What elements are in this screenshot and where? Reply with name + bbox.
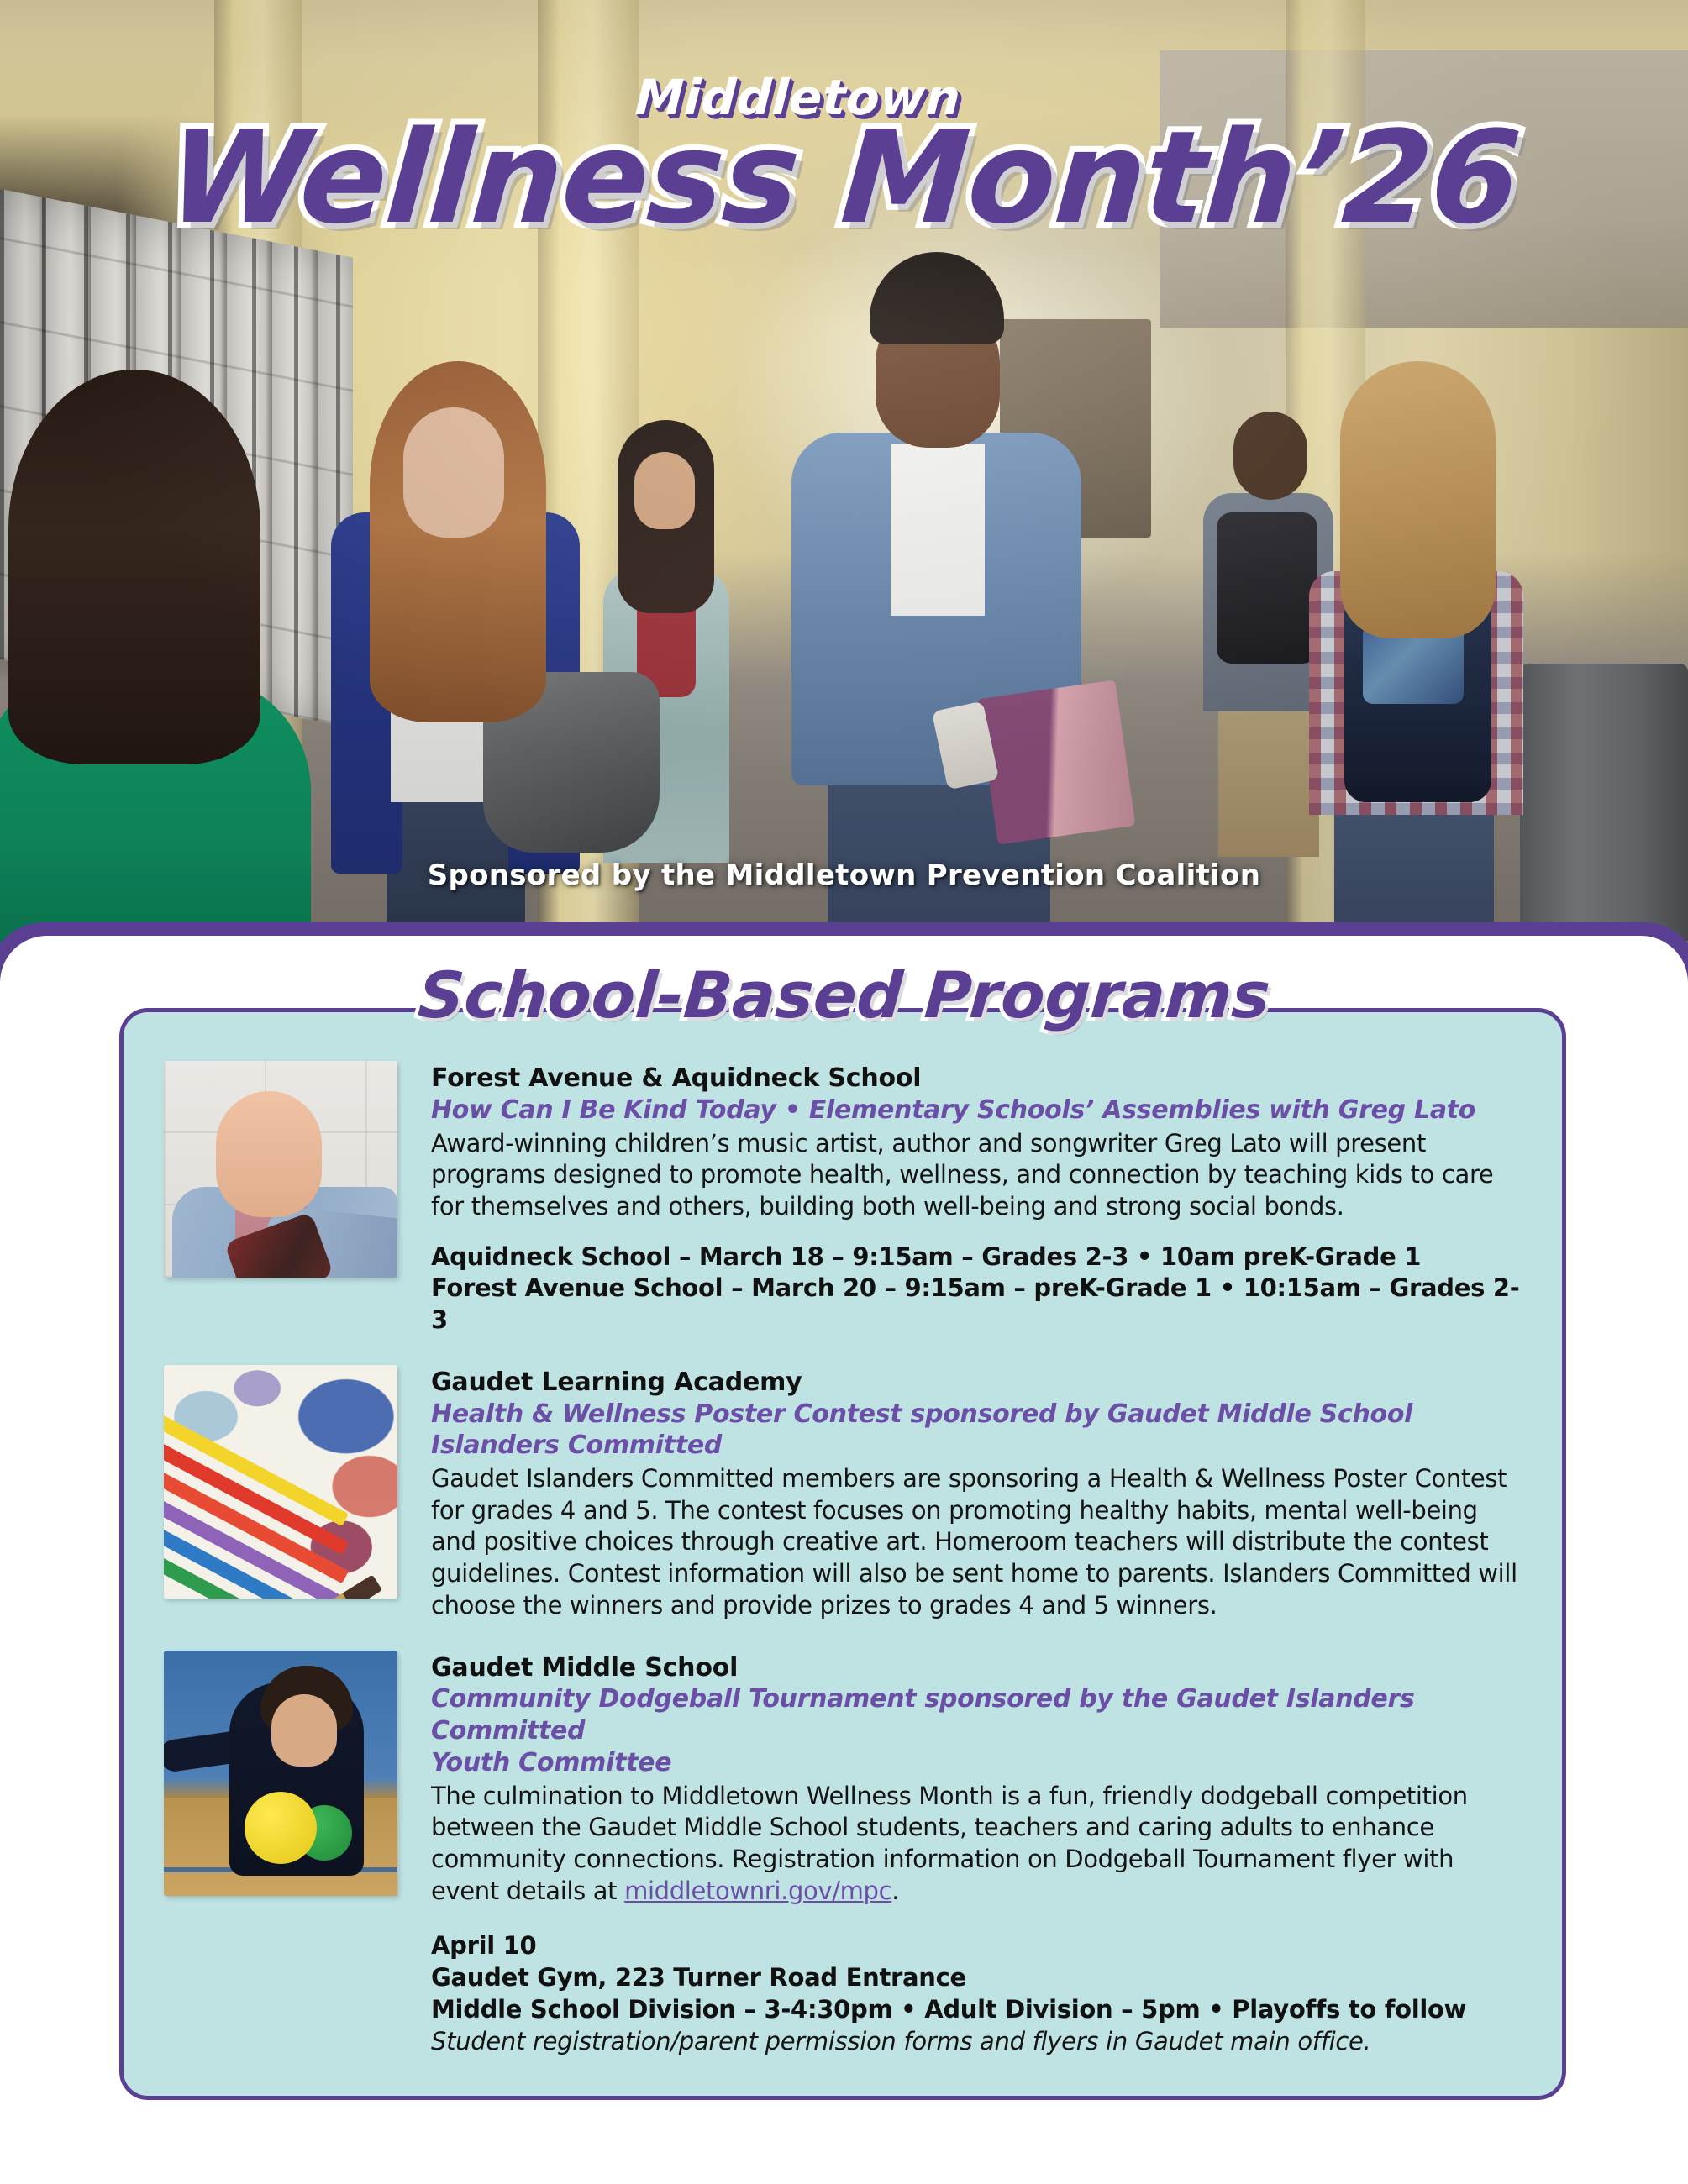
hallway-ceiling-light — [1160, 50, 1688, 328]
program-text: Gaudet Middle School Community Dodgeball… — [431, 1651, 1522, 1908]
event-divisions: Middle School Division – 3-4:30pm • Adul… — [431, 1994, 1522, 2026]
program-body: The culmination to Middletown Wellness M… — [431, 1781, 1522, 1908]
programs-list: Forest Avenue & Aquidneck School How Can… — [124, 1012, 1562, 2091]
section-heading-text: School-Based Programs — [416, 958, 1273, 1032]
wellness-month-flyer: Middletown Wellness Month’26 Sponsored b… — [0, 0, 1688, 2184]
program-text: Gaudet Learning Academy Health & Wellnes… — [431, 1365, 1522, 1622]
program-detail-line: Forest Avenue School – March 20 – 9:15am… — [431, 1273, 1522, 1336]
section-heading: School-Based Programs — [0, 958, 1688, 1032]
event-date: April 10 — [431, 1930, 1522, 1962]
program-details: Aquidneck School – March 18 – 9:15am – G… — [431, 1242, 1522, 1336]
program-text: Forest Avenue & Aquidneck School How Can… — [431, 1061, 1522, 1336]
program-body-post: . — [891, 1877, 899, 1905]
program-subtitle: Community Dodgeball Tournament sponsored… — [431, 1683, 1522, 1747]
program-school: Forest Avenue & Aquidneck School — [431, 1063, 1522, 1095]
colored-pencils-art-photo — [164, 1365, 397, 1599]
program-school: Gaudet Learning Academy — [431, 1367, 1522, 1399]
hero-photo — [0, 0, 1688, 949]
event-venue: Gaudet Gym, 223 Turner Road Entrance — [431, 1962, 1522, 1994]
program-subtitle: How Can I Be Kind Today • Elementary Sch… — [431, 1095, 1522, 1126]
program-body: Award-winning children’s music artist, a… — [431, 1128, 1522, 1223]
dodgeball-student-photo — [164, 1651, 397, 1896]
event-registration-note: Student registration/parent permission f… — [431, 2026, 1522, 2058]
program-body: Gaudet Islanders Committed members are s… — [431, 1463, 1522, 1621]
program-entry: Gaudet Learning Academy Health & Wellnes… — [164, 1365, 1522, 1622]
mpc-website-link[interactable]: middletownri.gov/mpc — [624, 1877, 891, 1905]
program-entry: Gaudet Middle School Community Dodgeball… — [164, 1651, 1522, 1908]
sponsor-line: Sponsored by the Middletown Prevention C… — [0, 858, 1688, 892]
program-subtitle: Health & Wellness Poster Contest sponsor… — [431, 1399, 1522, 1431]
greg-lato-presenter-photo — [164, 1061, 397, 1278]
event-footer-details: April 10 Gaudet Gym, 223 Turner Road Ent… — [431, 1930, 1522, 2057]
program-detail-line: Aquidneck School – March 18 – 9:15am – G… — [431, 1242, 1522, 1273]
program-body-pre: The culmination to Middletown Wellness M… — [431, 1782, 1468, 1905]
programs-card: Forest Avenue & Aquidneck School How Can… — [119, 1008, 1566, 2100]
program-subtitle-line2: Youth Committee — [431, 1747, 1522, 1779]
program-entry: Forest Avenue & Aquidneck School How Can… — [164, 1061, 1522, 1336]
student-boy-denim-shirt — [756, 252, 1109, 949]
trash-bin — [1520, 664, 1688, 941]
program-school: Gaudet Middle School — [431, 1652, 1522, 1684]
program-subtitle-line2: Islanders Committed — [431, 1430, 1522, 1462]
